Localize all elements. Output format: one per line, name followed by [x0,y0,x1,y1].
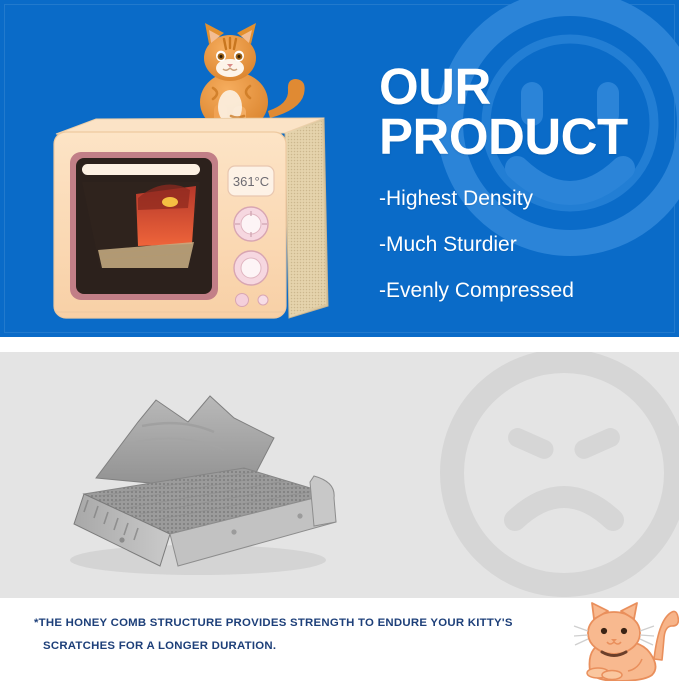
bullet-item: -Evenly Compressed [379,279,669,303]
footer-bar: *THE HONEY COMB STRUCTURE PROVIDES STREN… [0,598,679,679]
footer-disclaimer: *THE HONEY COMB STRUCTURE PROVIDES STREN… [34,612,554,659]
footer-line-1: *THE HONEY COMB STRUCTURE PROVIDES STREN… [34,617,513,629]
headline-line-2: PRODUCT [379,112,669,162]
our-product-image: 361°C [38,6,338,326]
bullet-item: -Highest Density [379,187,669,211]
temperature-display-text: 361°C [233,174,269,189]
footer-line-2: SCRATCHES FOR A LONGER DURATION. [34,635,554,658]
others-product-image [38,382,348,582]
bullet-item: -Much Sturdier [379,233,669,257]
our-product-copy: OUR PRODUCT -Highest Density -Much Sturd… [379,62,669,325]
headline-line-1: OUR [379,58,491,115]
cartoon-cat-mascot-icon [566,597,679,681]
our-product-panel: 361°C OUR PRODUCT -Highest Density -Much… [0,0,679,337]
orange-tabby-cat-photo [200,23,305,132]
others-panel: OTHERS -Large Grooves -Light Weight -Low… [0,352,679,598]
our-product-headline: OUR PRODUCT [379,62,669,163]
our-product-bullet-list: -Highest Density -Much Sturdier -Evenly … [379,187,669,303]
comparison-poster: 361°C OUR PRODUCT -Highest Density -Much… [0,0,679,679]
sad-face-watermark-icon [429,352,679,598]
